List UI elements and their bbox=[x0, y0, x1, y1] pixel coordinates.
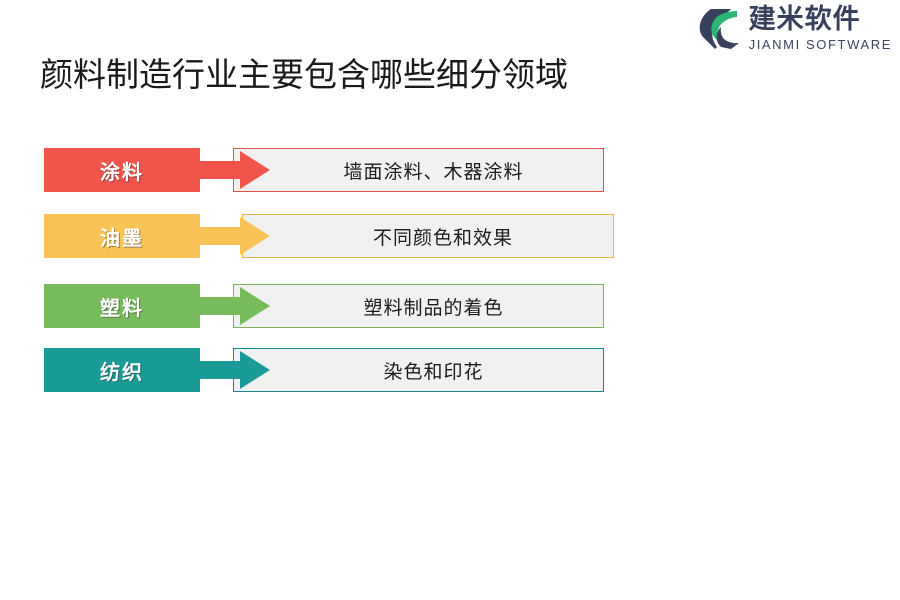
arrow-icon bbox=[200, 148, 276, 192]
arrow-icon bbox=[200, 348, 276, 392]
segment-row: 油墨 不同颜色和效果 bbox=[44, 214, 614, 258]
segment-list: 涂料 墙面涂料、木器涂料 油墨 不同颜色和效果 塑料 塑 bbox=[0, 0, 900, 600]
segment-description: 墙面涂料、木器涂料 bbox=[313, 157, 523, 184]
segment-row: 纺织 染色和印花 bbox=[44, 348, 604, 392]
segment-description-box: 不同颜色和效果 bbox=[242, 214, 614, 258]
segment-label: 塑料 bbox=[44, 284, 200, 328]
segment-description: 染色和印花 bbox=[353, 357, 483, 384]
segment-row: 塑料 塑料制品的着色 bbox=[44, 284, 604, 328]
segment-label: 油墨 bbox=[44, 214, 200, 258]
segment-description-box: 染色和印花 bbox=[233, 348, 604, 392]
segment-row: 涂料 墙面涂料、木器涂料 bbox=[44, 148, 604, 192]
segment-description-box: 塑料制品的着色 bbox=[233, 284, 604, 328]
segment-label: 纺织 bbox=[44, 348, 200, 392]
segment-label: 涂料 bbox=[44, 148, 200, 192]
segment-description: 塑料制品的着色 bbox=[333, 293, 503, 320]
slide-canvas: 建米软件 JIANMI SOFTWARE 颜料制造行业主要包含哪些细分领域 涂料… bbox=[0, 0, 900, 600]
segment-description: 不同颜色和效果 bbox=[343, 223, 513, 250]
arrow-icon bbox=[200, 284, 276, 328]
segment-description-box: 墙面涂料、木器涂料 bbox=[233, 148, 604, 192]
arrow-icon bbox=[200, 214, 276, 258]
